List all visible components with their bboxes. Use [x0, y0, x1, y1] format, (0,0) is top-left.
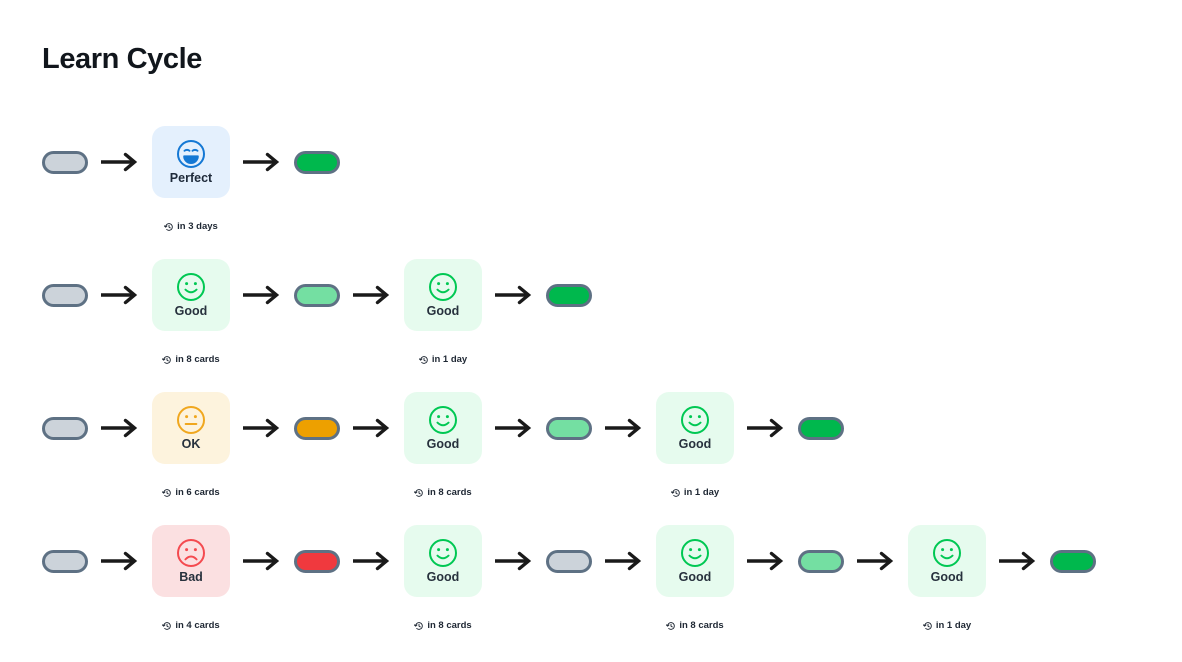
- grade-label: Good: [679, 571, 712, 585]
- arrow-right-icon: [242, 243, 282, 376]
- next-interval-text: in 1 day: [684, 487, 719, 498]
- grade-step: Goodin 8 cards: [656, 509, 734, 642]
- node-wrap: Good: [404, 243, 482, 347]
- node-wrap: [546, 376, 592, 480]
- grade-button-good[interactable]: Good: [404, 259, 482, 331]
- card-state-pill-review[interactable]: [798, 417, 844, 440]
- arrow-right-icon: [604, 376, 644, 509]
- node-wrap: Perfect: [152, 110, 230, 214]
- node-wrap: [546, 509, 592, 613]
- node-wrap: [294, 110, 340, 214]
- node-wrap: [42, 243, 88, 347]
- flow-row: Badin 4 cardsGoodin 8 cardsGoodin 8 card…: [0, 509, 1182, 642]
- card-state-step: [546, 509, 592, 642]
- next-interval-text: in 8 cards: [175, 354, 219, 365]
- arrow-right-icon: [352, 376, 392, 509]
- card-state-pill-new[interactable]: [42, 417, 88, 440]
- grade-label: Good: [175, 305, 208, 319]
- card-state-pill-new[interactable]: [42, 151, 88, 174]
- grade-step: Goodin 1 day: [404, 243, 482, 376]
- card-state-pill-review[interactable]: [294, 151, 340, 174]
- node-wrap: [294, 243, 340, 347]
- grade-label: Bad: [179, 571, 203, 585]
- grade-label: Good: [679, 438, 712, 452]
- card-state-pill-review[interactable]: [546, 284, 592, 307]
- grade-label: Good: [427, 305, 460, 319]
- grade-button-good[interactable]: Good: [656, 392, 734, 464]
- grade-button-bad[interactable]: Bad: [152, 525, 230, 597]
- node-wrap: [42, 509, 88, 613]
- arrow-right-icon: [242, 376, 282, 509]
- card-state-pill-learning[interactable]: [798, 550, 844, 573]
- node-wrap: [798, 509, 844, 613]
- card-state-step: [546, 376, 592, 509]
- next-interval-text: in 8 cards: [427, 487, 471, 498]
- card-state-pill-new[interactable]: [546, 550, 592, 573]
- next-interval-text: in 8 cards: [427, 620, 471, 631]
- flow-row: Perfectin 3 days: [0, 110, 1182, 243]
- face-smile-icon: [427, 271, 459, 303]
- node-wrap: [294, 509, 340, 613]
- arrow-right-icon: [100, 376, 140, 509]
- node-wrap: [294, 376, 340, 480]
- node-wrap: Good: [908, 509, 986, 613]
- node-wrap: Good: [404, 509, 482, 613]
- card-state-step: [294, 376, 340, 509]
- card-state-step: [294, 509, 340, 642]
- page-title: Learn Cycle: [42, 42, 202, 77]
- arrow-right-icon: [242, 110, 282, 243]
- card-state-step: [42, 376, 88, 509]
- card-state-step: [294, 243, 340, 376]
- history-clock-icon: [666, 621, 676, 631]
- history-clock-icon: [162, 355, 172, 365]
- history-clock-icon: [414, 488, 424, 498]
- face-smile-icon: [679, 404, 711, 436]
- next-interval-text: in 1 day: [936, 620, 971, 631]
- history-clock-icon: [162, 621, 172, 631]
- arrow-right-icon: [352, 509, 392, 642]
- arrow-right-icon: [998, 509, 1038, 642]
- history-clock-icon: [164, 222, 174, 232]
- arrow-right-icon: [100, 243, 140, 376]
- card-state-step: [546, 243, 592, 376]
- node-wrap: Good: [152, 243, 230, 347]
- grade-step: Goodin 1 day: [656, 376, 734, 509]
- grade-label: OK: [182, 438, 201, 452]
- card-state-pill-learning[interactable]: [294, 284, 340, 307]
- arrow-right-icon: [746, 376, 786, 509]
- grade-step: Badin 4 cards: [152, 509, 230, 642]
- face-grin-icon: [175, 138, 207, 170]
- grade-label: Good: [427, 438, 460, 452]
- card-state-pill-learning[interactable]: [546, 417, 592, 440]
- next-interval-caption: in 8 cards: [162, 354, 219, 365]
- grade-step: OKin 6 cards: [152, 376, 230, 509]
- next-interval-caption: in 1 day: [671, 487, 719, 498]
- grade-button-good[interactable]: Good: [404, 525, 482, 597]
- grade-button-perfect[interactable]: Perfect: [152, 126, 230, 198]
- learn-cycle-flow-diagram: Perfectin 3 daysGoodin 8 cardsGoodin 1 d…: [0, 110, 1182, 642]
- history-clock-icon: [671, 488, 681, 498]
- next-interval-caption: in 1 day: [419, 354, 467, 365]
- node-wrap: [1050, 509, 1096, 613]
- grade-step: Goodin 1 day: [908, 509, 986, 642]
- grade-step: Goodin 8 cards: [152, 243, 230, 376]
- node-wrap: [42, 110, 88, 214]
- node-wrap: Good: [656, 376, 734, 480]
- node-wrap: [798, 376, 844, 480]
- next-interval-caption: in 4 cards: [162, 620, 219, 631]
- card-state-step: [42, 243, 88, 376]
- arrow-right-icon: [100, 509, 140, 642]
- flow-row: OKin 6 cardsGoodin 8 cardsGoodin 1 day: [0, 376, 1182, 509]
- grade-button-ok[interactable]: OK: [152, 392, 230, 464]
- arrow-right-icon: [352, 243, 392, 376]
- grade-label: Perfect: [170, 172, 212, 186]
- arrow-right-icon: [746, 509, 786, 642]
- next-interval-caption: in 1 day: [923, 620, 971, 631]
- node-wrap: Bad: [152, 509, 230, 613]
- card-state-pill-lapsed[interactable]: [294, 550, 340, 573]
- face-frown-icon: [175, 537, 207, 569]
- card-state-pill-review[interactable]: [1050, 550, 1096, 573]
- face-smile-icon: [427, 404, 459, 436]
- next-interval-caption: in 8 cards: [666, 620, 723, 631]
- history-clock-icon: [923, 621, 933, 631]
- next-interval-caption: in 3 days: [164, 221, 218, 232]
- face-smile-icon: [175, 271, 207, 303]
- arrow-right-icon: [494, 376, 534, 509]
- arrow-right-icon: [100, 110, 140, 243]
- grade-button-good[interactable]: Good: [908, 525, 986, 597]
- next-interval-caption: in 8 cards: [414, 487, 471, 498]
- grade-step: Goodin 8 cards: [404, 376, 482, 509]
- card-state-step: [798, 509, 844, 642]
- node-wrap: [42, 376, 88, 480]
- arrow-right-icon: [856, 509, 896, 642]
- next-interval-caption: in 6 cards: [162, 487, 219, 498]
- grade-step: Goodin 8 cards: [404, 509, 482, 642]
- card-state-step: [42, 509, 88, 642]
- next-interval-text: in 6 cards: [175, 487, 219, 498]
- next-interval-text: in 4 cards: [175, 620, 219, 631]
- face-smile-icon: [427, 537, 459, 569]
- card-state-step: [294, 110, 340, 243]
- face-neutral-icon: [175, 404, 207, 436]
- card-state-step: [42, 110, 88, 243]
- card-state-pill-new[interactable]: [42, 284, 88, 307]
- arrow-right-icon: [494, 509, 534, 642]
- next-interval-text: in 1 day: [432, 354, 467, 365]
- history-clock-icon: [162, 488, 172, 498]
- next-interval-caption: in 8 cards: [414, 620, 471, 631]
- node-wrap: [546, 243, 592, 347]
- arrow-right-icon: [242, 509, 282, 642]
- arrow-right-icon: [604, 509, 644, 642]
- card-state-pill-relearning[interactable]: [294, 417, 340, 440]
- next-interval-text: in 8 cards: [679, 620, 723, 631]
- arrow-right-icon: [494, 243, 534, 376]
- grade-button-good[interactable]: Good: [404, 392, 482, 464]
- grade-step: Perfectin 3 days: [152, 110, 230, 243]
- next-interval-text: in 3 days: [177, 221, 218, 232]
- node-wrap: OK: [152, 376, 230, 480]
- face-smile-icon: [679, 537, 711, 569]
- grade-label: Good: [427, 571, 460, 585]
- grade-label: Good: [931, 571, 964, 585]
- grade-button-good[interactable]: Good: [656, 525, 734, 597]
- node-wrap: Good: [404, 376, 482, 480]
- face-smile-icon: [931, 537, 963, 569]
- card-state-step: [798, 376, 844, 509]
- grade-button-good[interactable]: Good: [152, 259, 230, 331]
- node-wrap: Good: [656, 509, 734, 613]
- flow-row: Goodin 8 cardsGoodin 1 day: [0, 243, 1182, 376]
- history-clock-icon: [414, 621, 424, 631]
- history-clock-icon: [419, 355, 429, 365]
- card-state-pill-new[interactable]: [42, 550, 88, 573]
- card-state-step: [1050, 509, 1096, 642]
